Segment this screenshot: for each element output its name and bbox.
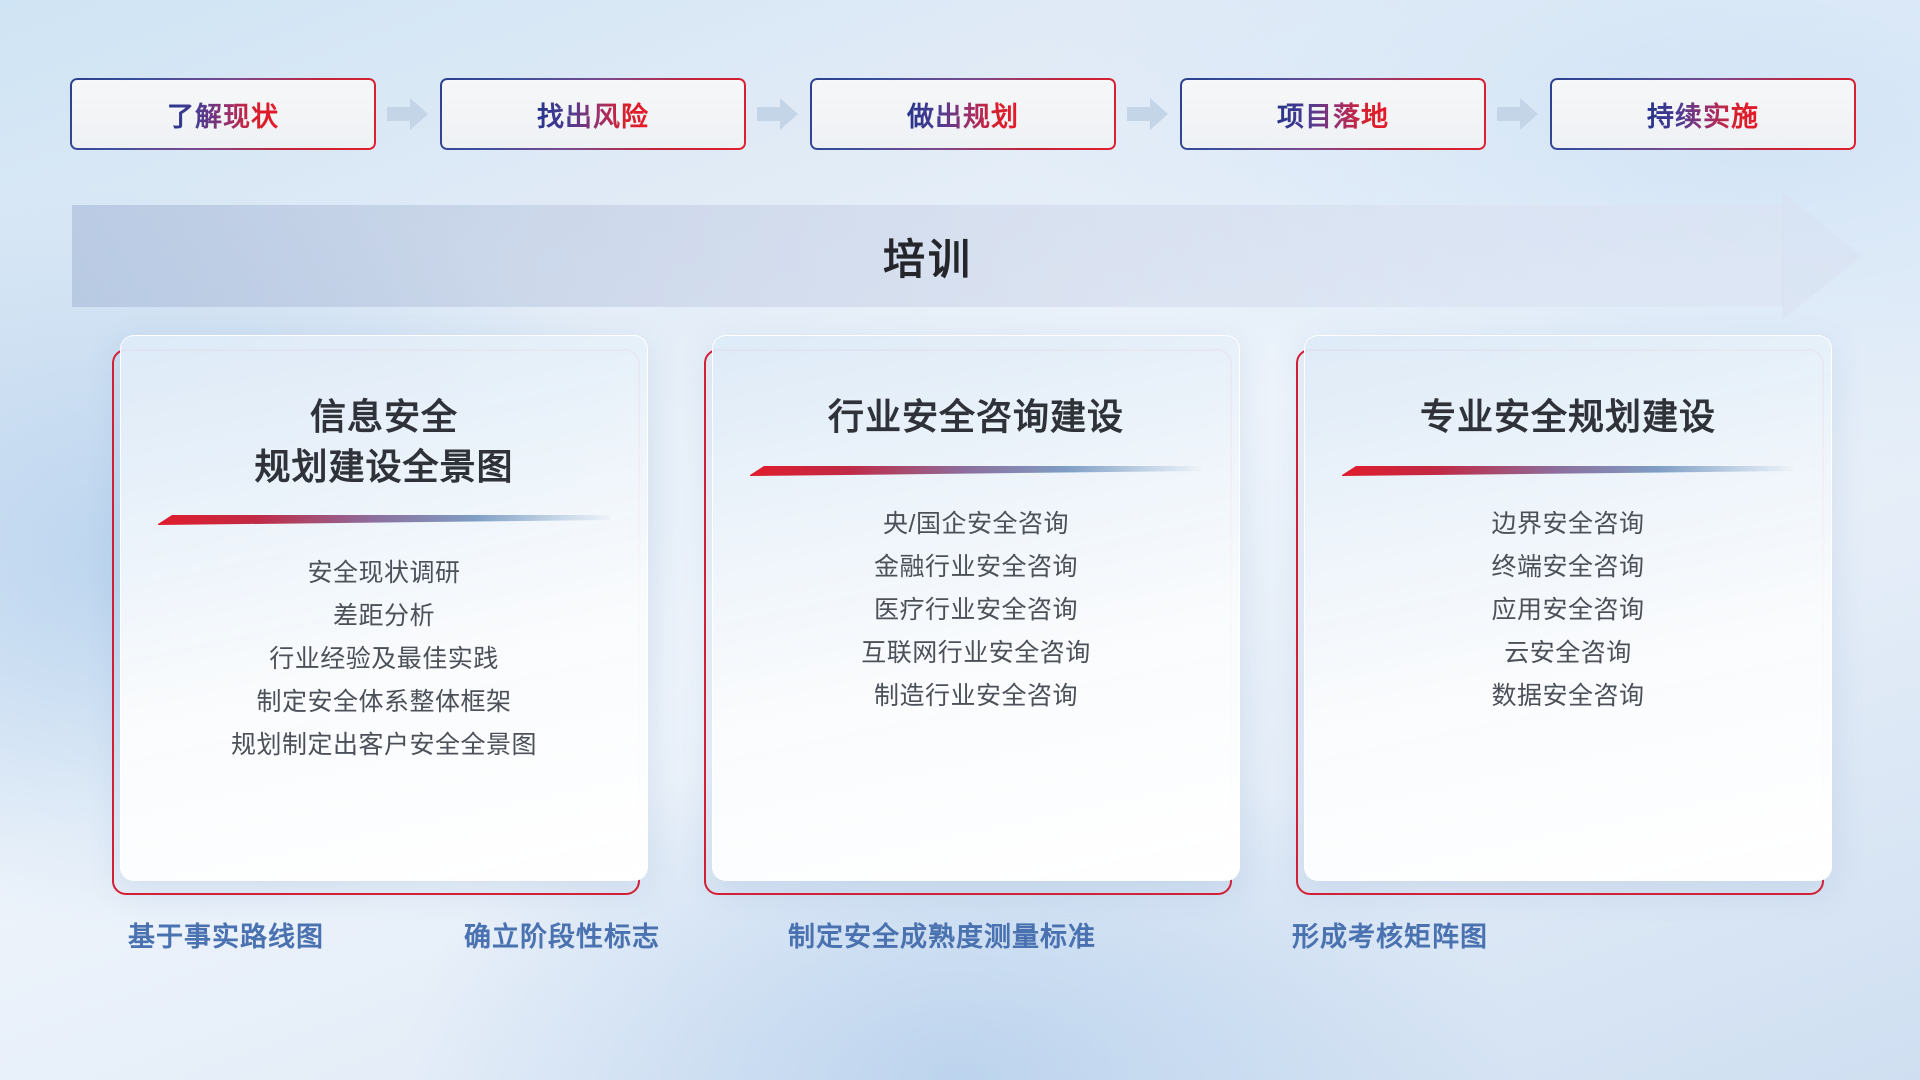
list-item: 医疗行业安全咨询 xyxy=(713,589,1239,632)
right-arrow-icon xyxy=(1486,97,1550,131)
gradient-divider-icon xyxy=(1342,464,1794,477)
list-item: 互联网行业安全咨询 xyxy=(713,632,1239,675)
banner-title: 培训 xyxy=(72,205,1784,307)
card-item-list: 安全现状调研差距分析行业经验及最佳实践制定安全体系整体框架规划制定出客户安全全景… xyxy=(121,552,647,767)
slide-canvas: 了解现状找出风险做出规划项目落地持续实施 培训 信息安全 规划建设全景图安全现状… xyxy=(0,0,1920,1080)
process-step-row: 了解现状找出风险做出规划项目落地持续实施 xyxy=(70,78,1860,150)
card-title: 行业安全咨询建设 xyxy=(828,392,1124,442)
list-item: 安全现状调研 xyxy=(121,552,647,595)
list-item: 行业经验及最佳实践 xyxy=(121,638,647,681)
training-banner: 培训 xyxy=(72,205,1862,307)
footer-label: 基于事实路线图 xyxy=(128,915,324,954)
gradient-divider-icon xyxy=(750,464,1202,477)
list-item: 差距分析 xyxy=(121,595,647,638)
step-box-2[interactable]: 找出风险 xyxy=(440,78,746,150)
step-label: 做出规划 xyxy=(907,95,1019,134)
list-item: 制造行业安全咨询 xyxy=(713,675,1239,718)
card-panel: 行业安全咨询建设央/国企安全咨询金融行业安全咨询医疗行业安全咨询互联网行业安全咨… xyxy=(712,335,1240,881)
right-arrow-icon xyxy=(1116,97,1180,131)
card-item-list: 边界安全咨询终端安全咨询应用安全咨询云安全咨询数据安全咨询 xyxy=(1305,503,1831,718)
step-box-5[interactable]: 持续实施 xyxy=(1550,78,1856,150)
card-item-list: 央/国企安全咨询金融行业安全咨询医疗行业安全咨询互联网行业安全咨询制造行业安全咨… xyxy=(713,503,1239,718)
right-arrow-icon xyxy=(746,97,810,131)
service-card[interactable]: 行业安全咨询建设央/国企安全咨询金融行业安全咨询医疗行业安全咨询互联网行业安全咨… xyxy=(704,335,1232,895)
footer-label: 形成考核矩阵图 xyxy=(1292,915,1488,954)
list-item: 云安全咨询 xyxy=(1305,632,1831,675)
card-panel: 专业安全规划建设边界安全咨询终端安全咨询应用安全咨询云安全咨询数据安全咨询 xyxy=(1304,335,1832,881)
list-item: 规划制定出客户安全全景图 xyxy=(121,724,647,767)
card-panel: 信息安全 规划建设全景图安全现状调研差距分析行业经验及最佳实践制定安全体系整体框… xyxy=(120,335,648,881)
step-label: 持续实施 xyxy=(1647,95,1759,134)
step-label: 项目落地 xyxy=(1277,95,1389,134)
banner-arrow-tip-icon xyxy=(1782,192,1862,320)
service-card[interactable]: 专业安全规划建设边界安全咨询终端安全咨询应用安全咨询云安全咨询数据安全咨询 xyxy=(1296,335,1824,895)
list-item: 边界安全咨询 xyxy=(1305,503,1831,546)
footer-label-row: 基于事实路线图确立阶段性标志制定安全成熟度测量标准形成考核矩阵图 xyxy=(0,915,1920,965)
step-label: 找出风险 xyxy=(537,95,649,134)
step-box-1[interactable]: 了解现状 xyxy=(70,78,376,150)
service-card[interactable]: 信息安全 规划建设全景图安全现状调研差距分析行业经验及最佳实践制定安全体系整体框… xyxy=(112,335,640,895)
card-row: 信息安全 规划建设全景图安全现状调研差距分析行业经验及最佳实践制定安全体系整体框… xyxy=(112,335,1832,895)
list-item: 应用安全咨询 xyxy=(1305,589,1831,632)
list-item: 终端安全咨询 xyxy=(1305,546,1831,589)
step-box-3[interactable]: 做出规划 xyxy=(810,78,1116,150)
right-arrow-icon xyxy=(376,97,440,131)
gradient-divider-icon xyxy=(158,513,610,526)
step-box-4[interactable]: 项目落地 xyxy=(1180,78,1486,150)
step-label: 了解现状 xyxy=(167,95,279,134)
footer-label: 制定安全成熟度测量标准 xyxy=(788,915,1096,954)
list-item: 金融行业安全咨询 xyxy=(713,546,1239,589)
card-title: 专业安全规划建设 xyxy=(1420,392,1716,442)
card-title: 信息安全 规划建设全景图 xyxy=(254,392,513,491)
footer-label: 确立阶段性标志 xyxy=(464,915,660,954)
list-item: 数据安全咨询 xyxy=(1305,675,1831,718)
list-item: 央/国企安全咨询 xyxy=(713,503,1239,546)
list-item: 制定安全体系整体框架 xyxy=(121,681,647,724)
